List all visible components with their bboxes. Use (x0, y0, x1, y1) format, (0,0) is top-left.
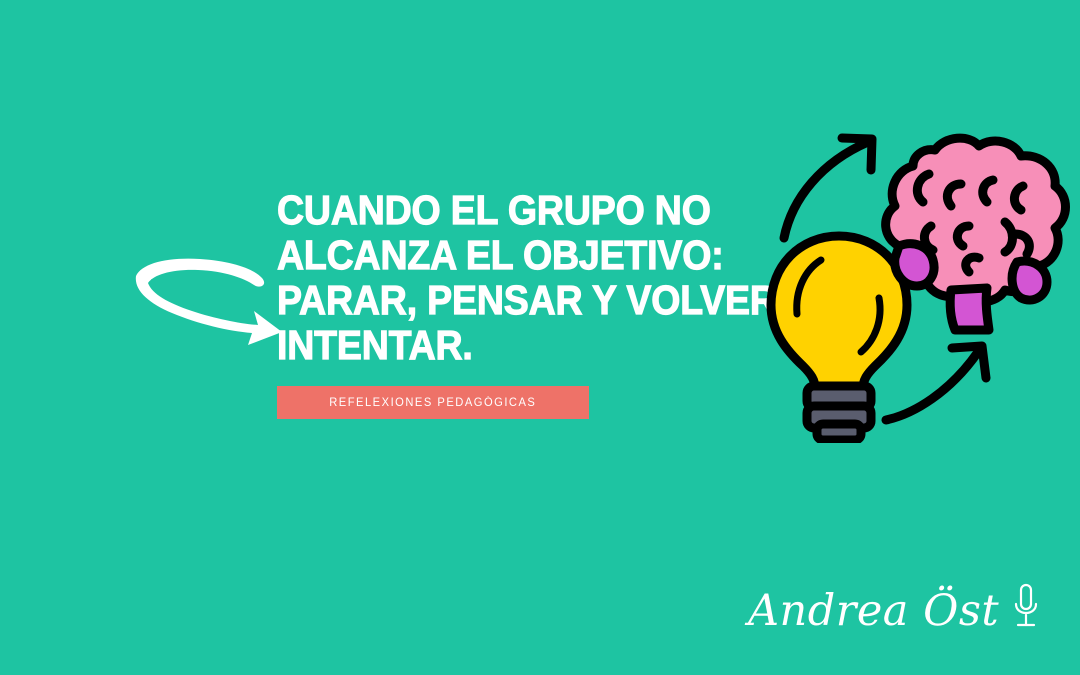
curved-arrow-bottom-icon (880, 330, 1010, 435)
hand-drawn-arrow-right-icon (128, 245, 288, 350)
slide-canvas: CUANDO EL GRUPO NO ALCANZA EL OBJETIVO: … (0, 0, 1080, 675)
signature-name: Andrea Öst (748, 583, 999, 639)
headline-line-2: ALCANZA EL OBJETIVO: (277, 233, 735, 278)
signature: Andrea Öst (748, 582, 1041, 639)
headline: CUANDO EL GRUPO NO ALCANZA EL OBJETIVO: … (277, 188, 735, 368)
category-badge: REFELEXIONES PEDAGÓGICAS (277, 386, 589, 419)
headline-line-1: CUANDO EL GRUPO NO (277, 188, 735, 233)
category-badge-label: REFELEXIONES PEDAGÓGICAS (329, 397, 536, 409)
microphone-icon (1011, 582, 1041, 639)
headline-line-3: PARAR, PENSAR Y VOLVER A (277, 278, 735, 323)
headline-line-4: INTENTAR. (277, 323, 735, 368)
brain-icon (865, 122, 1075, 337)
